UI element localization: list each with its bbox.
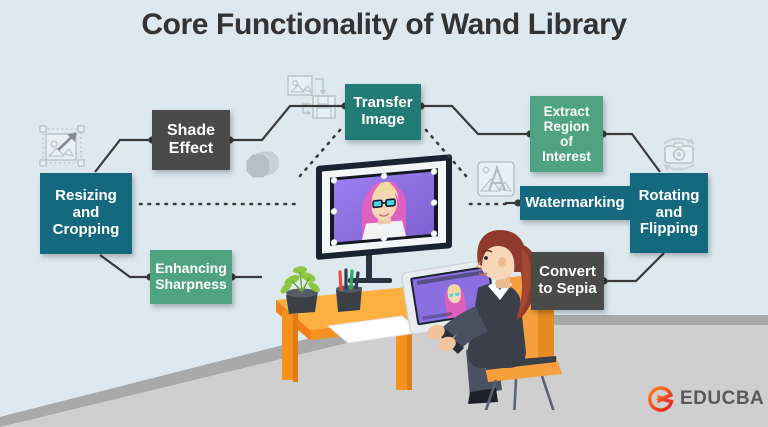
educba-logo: EDUCBA — [648, 383, 760, 415]
node-label: Resizing and Cropping — [53, 188, 120, 238]
educba-e-play-mark — [648, 386, 674, 412]
node-enhancing-sharpness[interactable]: Enhancing Sharpness — [150, 250, 232, 304]
node-watermarking[interactable]: Watermarking — [520, 186, 630, 220]
node-transfer-image[interactable]: Transfer Image — [345, 84, 421, 140]
node-label: Shade Effect — [167, 122, 215, 158]
node-extract-region-of-interest[interactable]: Extract Region of Interest — [530, 96, 603, 172]
node-shade-effect[interactable]: Shade Effect — [152, 110, 230, 170]
node-rotating-and-flipping[interactable]: Rotating and Flipping — [630, 173, 708, 253]
node-label: Enhancing Sharpness — [155, 261, 227, 292]
logo-text: EDUCBA — [680, 388, 764, 410]
node-convert-to-sepia[interactable]: Convert to Sepia — [531, 252, 604, 310]
node-resizing-and-cropping[interactable]: Resizing and Cropping — [40, 173, 132, 254]
infographic-canvas: Core Functionality of Wand Library — [0, 0, 768, 427]
node-label: Rotating and Flipping — [639, 188, 700, 238]
node-label: Watermarking — [525, 195, 624, 212]
node-label: Extract Region of Interest — [535, 104, 598, 164]
node-label: Transfer Image — [353, 95, 412, 129]
node-label: Convert to Sepia — [538, 264, 596, 298]
